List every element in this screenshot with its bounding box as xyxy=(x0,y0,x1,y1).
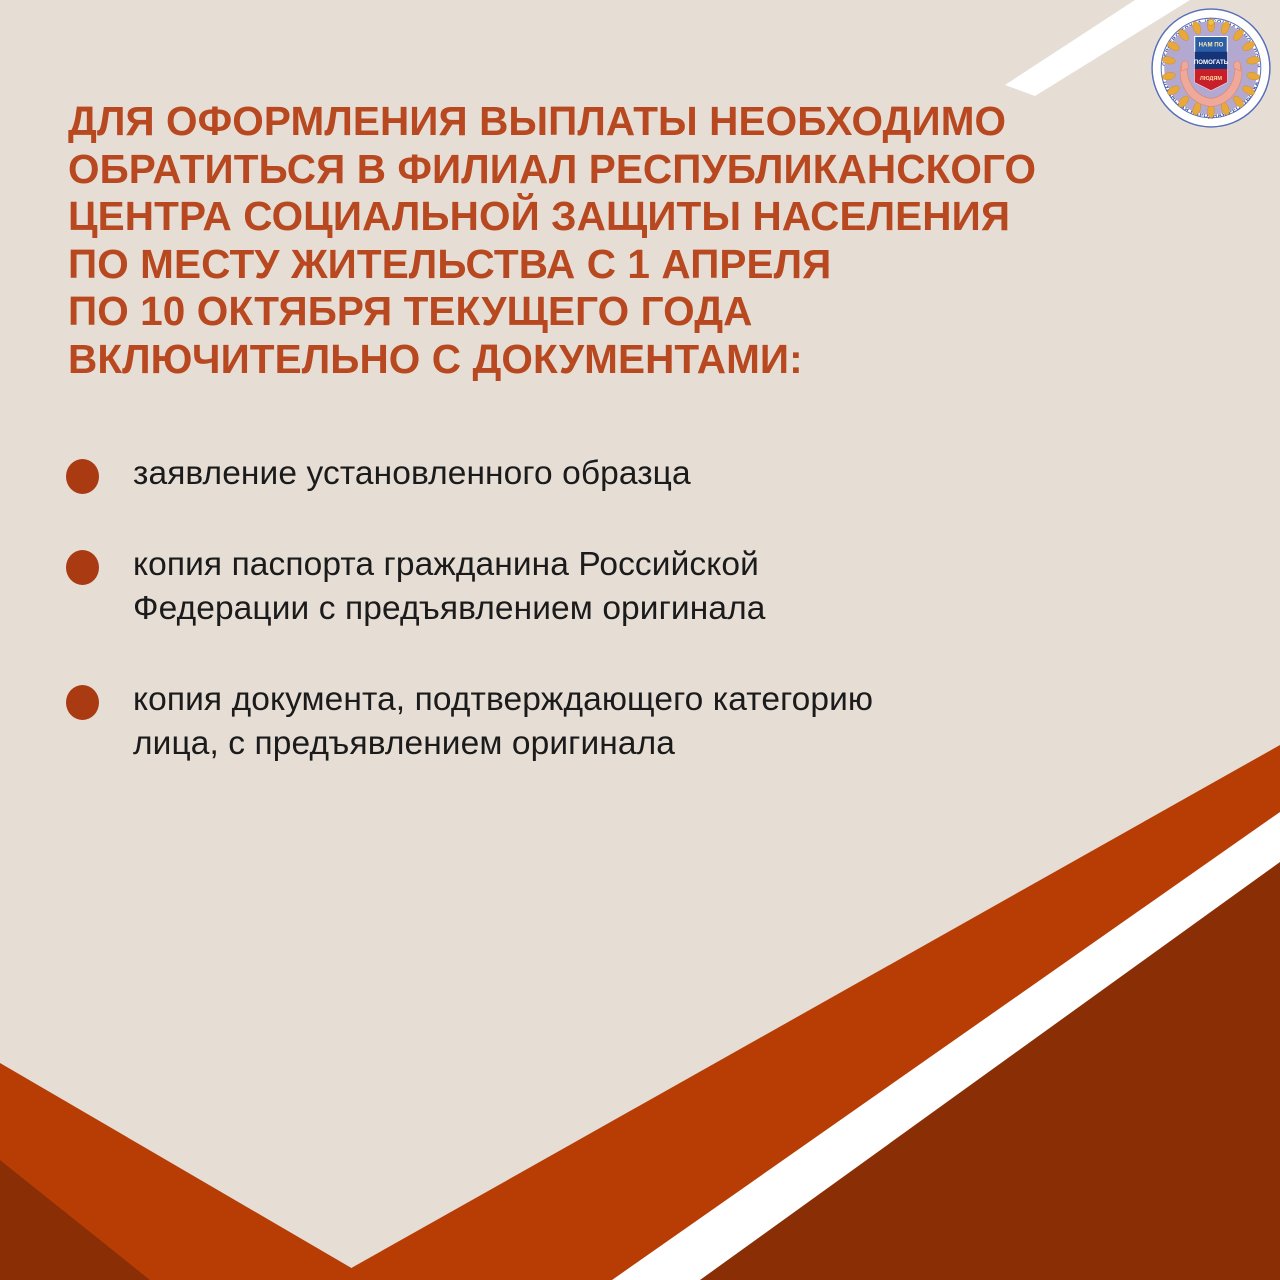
list-item-text: копия документа, подтверждающего категор… xyxy=(133,678,1186,766)
headline-line-6: ВКЛЮЧИТЕЛЬНО С ДОКУМЕНТАМИ: xyxy=(68,336,1258,384)
documents-list: заявление установленного образца копия п… xyxy=(66,452,1186,766)
page-title: ДЛЯ ОФОРМЛЕНИЯ ВЫПЛАТЫ НЕОБХОДИМО ОБРАТИ… xyxy=(68,98,1258,383)
list-item-line: лица, с предъявлением оригинала xyxy=(133,722,1186,766)
list-item: копия документа, подтверждающего категор… xyxy=(66,678,1186,766)
shield-line-3: ЛЮДЯМ xyxy=(1200,76,1223,82)
ministry-emblem: МИНИСТЕРСТВО ТРУДА И СОЦИАЛЬНОЙ ПОЛИТИКИ… xyxy=(1150,7,1272,129)
bottom-left-dark-wedge xyxy=(0,1160,150,1280)
bottom-right-dark-orange-shape xyxy=(690,845,1280,1280)
emblem-flag-shield: НАМ ПО ПОМОГАТЬ ЛЮДЯМ xyxy=(1194,36,1229,90)
poster-root: МИНИСТЕРСТВО ТРУДА И СОЦИАЛЬНОЙ ПОЛИТИКИ… xyxy=(0,0,1280,1280)
list-item-text: копия паспорта гражданина Российской Фед… xyxy=(133,543,1186,631)
list-item-line: Федерации с предъявлением оригинала xyxy=(133,587,1186,631)
headline-line-4: ПО МЕСТУ ЖИТЕЛЬСТВА С 1 АПРЕЛЯ xyxy=(68,241,1258,289)
bottom-right-orange-band xyxy=(330,745,1280,1280)
list-item-line: копия документа, подтверждающего категор… xyxy=(133,678,1186,722)
emblem-star-icon xyxy=(1208,19,1214,25)
bottom-left-orange-band xyxy=(0,1063,372,1280)
headline-line-2: ОБРАТИТЬСЯ В ФИЛИАЛ РЕСПУБЛИКАНСКОГО xyxy=(68,146,1258,194)
bullet-dot-icon xyxy=(66,685,99,720)
list-item: заявление установленного образца xyxy=(66,452,1186,496)
headline-line-3: ЦЕНТРА СОЦИАЛЬНОЙ ЗАЩИТЫ НАСЕЛЕНИЯ xyxy=(68,193,1258,241)
list-item-line: заявление установленного образца xyxy=(133,452,1186,496)
list-item-line: копия паспорта гражданина Российской xyxy=(133,543,1186,587)
headline-line-5: ПО 10 ОКТЯБРЯ ТЕКУЩЕГО ГОДА xyxy=(68,288,1258,336)
bottom-right-white-stripe xyxy=(600,800,1280,1280)
shield-line-2: ПОМОГАТЬ xyxy=(1194,59,1229,66)
bullet-dot-icon xyxy=(66,459,99,494)
headline-line-1: ДЛЯ ОФОРМЛЕНИЯ ВЫПЛАТЫ НЕОБХОДИМО xyxy=(68,98,1258,146)
list-item: копия паспорта гражданина Российской Фед… xyxy=(66,543,1186,631)
list-item-text: заявление установленного образца xyxy=(133,452,1186,496)
shield-line-1: НАМ ПО xyxy=(1199,42,1224,49)
bullet-dot-icon xyxy=(66,550,99,585)
